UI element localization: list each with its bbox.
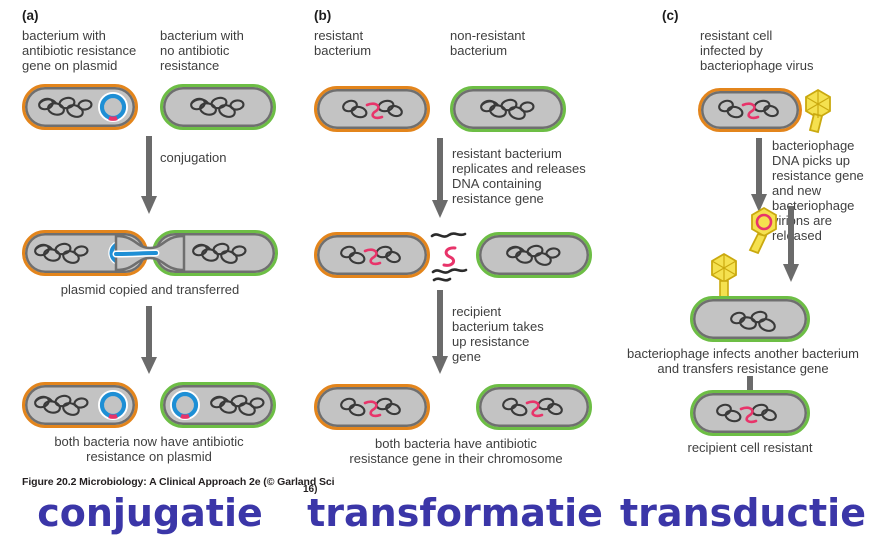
chromosome-tangle-icon [716,98,782,124]
chromosome-tangle-icon [190,242,248,266]
label-plasmid-transferred: plasmid copied and transferred [20,282,280,297]
cell-recipient-final-a [160,382,276,428]
panel-conjugation: (a) bacterium with antibiotic resistance… [0,0,300,537]
title-transductie: transductie [610,493,876,533]
chromosome-tangle-icon [32,242,90,266]
cell-cytoplasm [22,84,138,130]
chromosome-tangle-icon [208,394,266,418]
plasmid-ring-icon [98,92,128,122]
cell-donor-c [698,88,802,132]
down-arrow-icon [750,138,768,214]
chromosome-tangle-icon [188,96,246,120]
down-arrow-icon [140,306,158,376]
cell-donor-b-mid [314,232,430,278]
label-step-phage-infects: bacteriophage infects another bacterium … [606,346,876,376]
label-final-b: both bacteria have antibiotic resistance… [306,436,606,466]
cell-donor-final-a [22,382,138,428]
down-arrow-icon [431,290,449,376]
cell-recipient-infected-c [690,296,810,342]
down-arrow-icon [140,136,158,216]
label-recipient-cell-a: bacterium with no antibiotic resistance [160,28,290,73]
down-arrow-icon [431,138,449,220]
label-step-conjugation: conjugation [160,150,290,165]
cell-cytoplasm [698,88,802,132]
cell-cytoplasm [690,296,810,342]
plasmid-ring-icon [170,390,200,420]
cell-recipient-b [450,86,566,132]
down-arrow-icon [782,206,800,284]
cell-cytoplasm [450,86,566,132]
cell-cytoplasm [476,232,592,278]
chromosome-tangle-icon [338,396,404,422]
label-final-c: recipient cell resistant [630,440,870,455]
cell-cytoplasm [690,390,810,436]
chromosome-tangle-icon [340,98,406,124]
cell-recipient-final-b [476,384,592,430]
label-final-a: both bacteria now have antibiotic resist… [16,434,282,464]
chromosome-tangle-icon [338,244,404,270]
label-donor-cell-b: resistant bacterium [314,28,434,58]
panel-letter-b: (b) [314,8,331,23]
bacteriophage-icon [800,86,836,136]
label-donor-cell-c: resistant cell infected by bacteriophage… [700,28,860,73]
panel-transformation: (b) resistant bacterium non-resistant ba… [300,0,610,537]
cell-cytoplasm [160,84,276,130]
chromosome-tangle-icon [714,402,780,428]
label-donor-cell-a: bacterium with antibiotic resistance gen… [22,28,162,73]
chromosome-tangle-icon [728,310,786,334]
panel-letter-c: (c) [662,8,679,23]
cell-cytoplasm [314,86,430,132]
label-step-release-dna: resistant bacterium replicates and relea… [452,146,612,206]
free-dna-fragment-icon [428,228,474,284]
plasmid-ring-icon [98,390,128,420]
cell-cytoplasm [314,384,430,430]
cell-cytoplasm [476,384,592,430]
chromosome-tangle-icon [32,394,90,418]
cell-recipient-final-c [690,390,810,436]
title-conjugatie: conjugatie [0,493,300,533]
cell-donor-final-b [314,384,430,430]
cell-recipient-a [160,84,276,130]
chromosome-tangle-icon [478,98,536,122]
cell-cytoplasm [160,382,276,428]
label-step-uptake: recipient bacterium takes up resistance … [452,304,602,364]
title-transformatie: transformatie [300,493,610,533]
panel-letter-a: (a) [22,8,39,23]
cell-recipient-b-mid [476,232,592,278]
cell-cytoplasm [314,232,430,278]
conjugation-bridge [110,230,190,276]
cell-donor-b [314,86,430,132]
chromosome-tangle-icon [500,396,566,422]
bacteriophage-virion-icon [742,204,782,256]
chromosome-tangle-icon [504,244,562,268]
figure-credit: Figure 20.2 Microbiology: A Clinical App… [22,476,334,488]
chromosome-tangle-icon [36,96,94,120]
label-recipient-cell-b: non-resistant bacterium [450,28,590,58]
cell-donor-a [22,84,138,130]
panel-transduction: (c) resistant cell infected by bacteriop… [610,0,876,537]
cell-cytoplasm [22,382,138,428]
